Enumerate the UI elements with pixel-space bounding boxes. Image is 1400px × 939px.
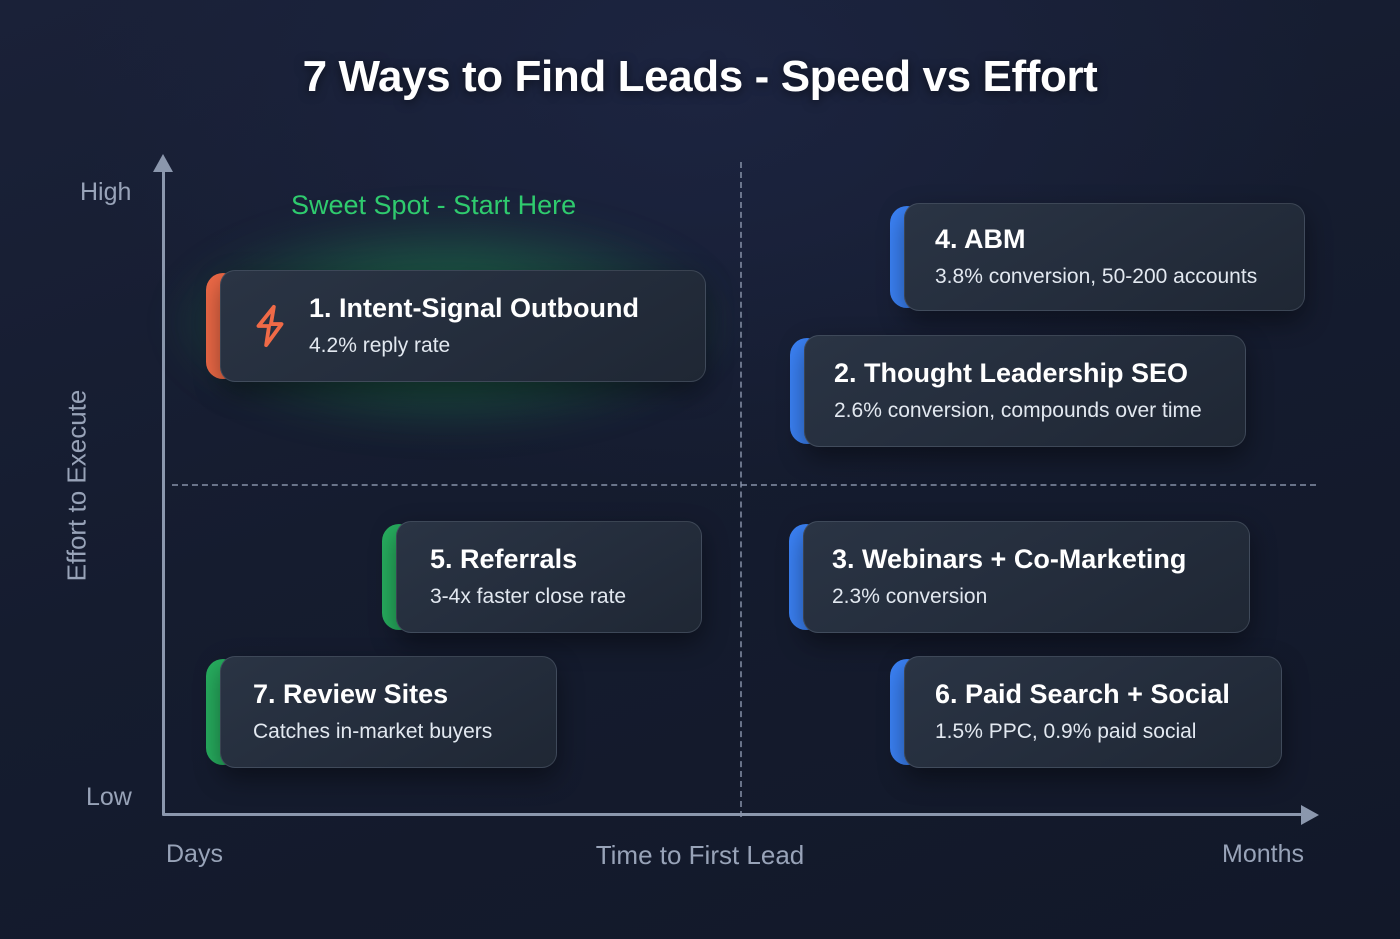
x-axis-title: Time to First Lead (0, 840, 1400, 871)
card-intent-signal-outbound[interactable]: 1. Intent-Signal Outbound 4.2% reply rat… (206, 267, 706, 385)
card-title: 6. Paid Search + Social (935, 679, 1230, 711)
card-abm[interactable]: 4. ABM 3.8% conversion, 50-200 accounts (890, 200, 1305, 314)
quadrant-divider-vertical (740, 162, 742, 817)
card-subtitle: 3-4x faster close rate (430, 583, 626, 610)
x-axis-line (162, 813, 1306, 816)
card-title: 1. Intent-Signal Outbound (309, 293, 639, 325)
card-title: 4. ABM (935, 224, 1257, 256)
x-axis-arrow-icon (1301, 805, 1319, 825)
card-subtitle: 3.8% conversion, 50-200 accounts (935, 263, 1257, 290)
quadrant-divider-horizontal (172, 484, 1316, 486)
card-title: 2. Thought Leadership SEO (834, 358, 1202, 390)
card-paid-search-social[interactable]: 6. Paid Search + Social 1.5% PPC, 0.9% p… (890, 653, 1282, 771)
card-referrals[interactable]: 5. Referrals 3-4x faster close rate (382, 518, 702, 636)
card-subtitle: 1.5% PPC, 0.9% paid social (935, 718, 1230, 745)
card-subtitle: 2.6% conversion, compounds over time (834, 397, 1202, 424)
card-title: 5. Referrals (430, 544, 626, 576)
sweet-spot-annotation: Sweet Spot - Start Here (291, 190, 576, 221)
card-review-sites[interactable]: 7. Review Sites Catches in-market buyers (206, 653, 557, 771)
card-title: 3. Webinars + Co-Marketing (832, 544, 1186, 576)
y-axis-line (162, 168, 165, 816)
page-title: 7 Ways to Find Leads - Speed vs Effort (0, 52, 1400, 102)
card-webinars-co-marketing[interactable]: 3. Webinars + Co-Marketing 2.3% conversi… (789, 518, 1250, 636)
y-axis-title: Effort to Execute (62, 356, 93, 616)
y-axis-arrow-icon (153, 154, 173, 172)
card-thought-leadership-seo[interactable]: 2. Thought Leadership SEO 2.6% conversio… (790, 332, 1246, 450)
card-subtitle: Catches in-market buyers (253, 718, 492, 745)
lightning-bolt-icon (247, 303, 293, 349)
card-title: 7. Review Sites (253, 679, 492, 711)
quadrant-chart-canvas: 7 Ways to Find Leads - Speed vs Effort H… (0, 0, 1400, 939)
y-axis-low-label: Low (86, 783, 132, 812)
y-axis-high-label: High (80, 178, 131, 207)
card-subtitle: 4.2% reply rate (309, 332, 639, 359)
card-subtitle: 2.3% conversion (832, 583, 1186, 610)
